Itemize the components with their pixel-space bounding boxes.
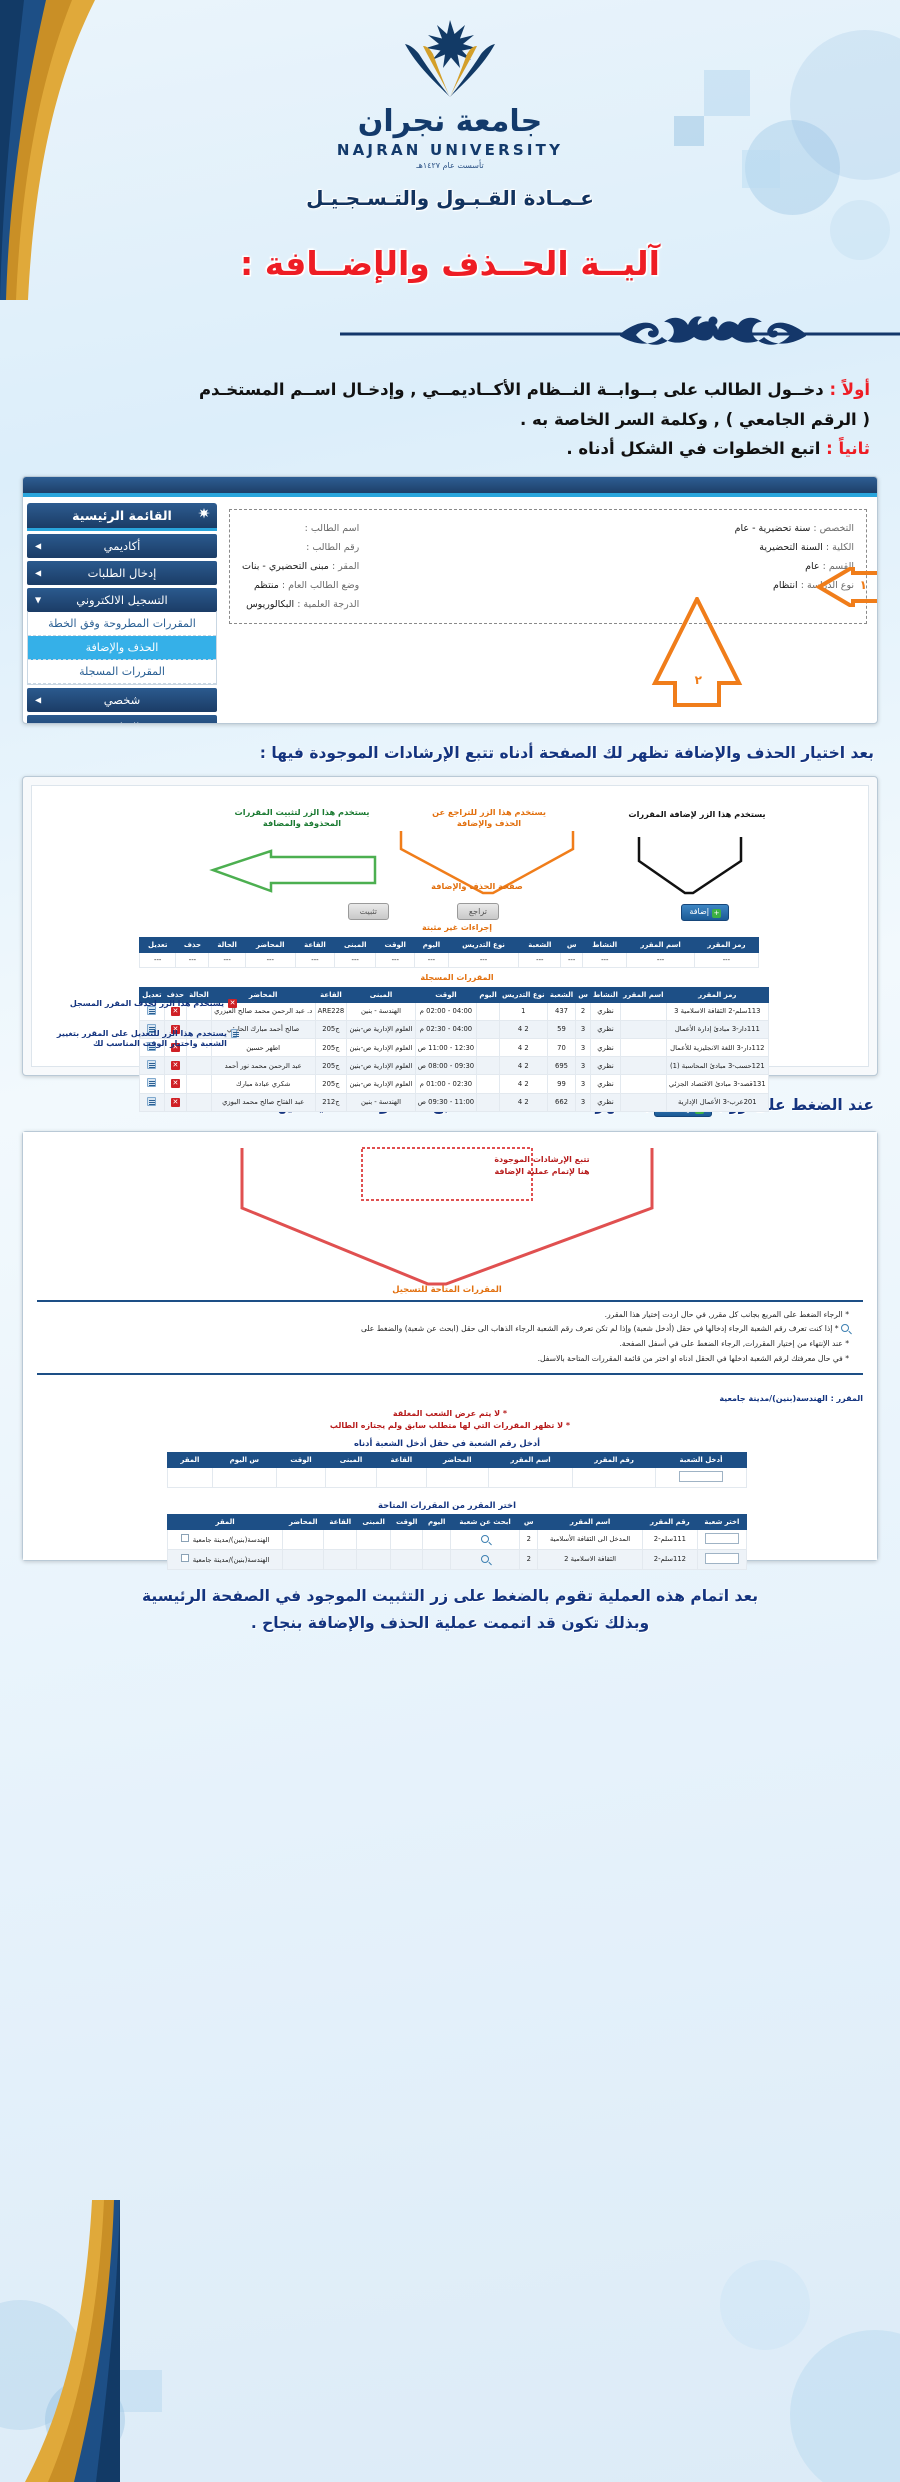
- section-b-title: اختر المقرر من المقررات المتاحة: [317, 1500, 577, 1510]
- column-header: اختر شعبة: [697, 1514, 746, 1529]
- table-cell: [573, 1467, 656, 1487]
- table-cell: [450, 1549, 519, 1569]
- edit-icon[interactable]: [147, 1078, 156, 1087]
- select-course-checkbox[interactable]: [181, 1554, 189, 1562]
- sidebar-item-label: إدخال الطلبات: [88, 566, 157, 580]
- table-cell: [697, 1529, 746, 1549]
- sidebar-title: القائمة الرئيسية: [27, 503, 217, 528]
- table-header-row: اختر شعبةرقم المقرراسم المقررسابحث عن شع…: [168, 1514, 747, 1529]
- table-cell: المدخل الى الثقافة الأسلامية: [538, 1529, 643, 1549]
- portal-sidebar: القائمة الرئيسية ◀ أكاديمي ◀ إدخال الطلب…: [23, 497, 223, 723]
- red-note-line2: هنا لإتمام عملية الإضافة: [457, 1166, 627, 1178]
- instruction-second-text: اتبع الخطوات في الشكل أدناه .: [566, 439, 820, 458]
- search-icon[interactable]: [481, 1555, 489, 1563]
- column-header: المبنى: [357, 1514, 391, 1529]
- chevron-left-icon: ◀: [35, 541, 41, 550]
- chevron-left-icon: ◀: [35, 695, 41, 704]
- table-cell: [283, 1549, 324, 1569]
- column-header: رقم المقرر: [573, 1452, 656, 1467]
- red-note: تتبع الإرشادات الموجودة هنا لإتمام عملية…: [457, 1154, 627, 1178]
- info-row: رقم الطالب :: [242, 538, 359, 557]
- table-cell: [697, 1549, 746, 1569]
- table-cell: [423, 1529, 451, 1549]
- table-cell: 111سلم-2: [642, 1529, 697, 1549]
- column-header: الوقت: [391, 1514, 423, 1529]
- table-cell: 99: [547, 1075, 575, 1093]
- info-row: وضع الطالب العام : منتظم: [242, 576, 359, 595]
- sidebar-item-label: التسجيل الالكتروني: [76, 593, 167, 607]
- deanship-title: عـمـادة القـبـول والتـسـجـيـل: [0, 186, 900, 210]
- red-constraint-1: * لا يتم عرض الشعب المغلقة: [37, 1408, 863, 1420]
- red-note-line1: تتبع الإرشادات الموجودة: [457, 1154, 627, 1166]
- table-cell: ✕: [164, 1075, 186, 1093]
- info-row: الدرجة العلمية : البكالوريوس: [242, 595, 359, 614]
- enter-section-table: أدخل الشعبةرقم المقرراسم المقررالمحاضرال…: [167, 1452, 747, 1488]
- table-cell: 02:30 - 01:00 م: [415, 1075, 477, 1093]
- column-header: رقم المقرر: [642, 1514, 697, 1529]
- instruction-first-line: أولاً : دخــول الطالب على بــوابــة النـ…: [50, 377, 870, 403]
- table-cell: [212, 1467, 276, 1487]
- student-info-area: التخصص : سنة تحضيرية - عام الكلية : السن…: [223, 497, 877, 723]
- inline-add-button[interactable]: + إضافة: [654, 1100, 712, 1117]
- table-cell: [187, 1075, 212, 1093]
- major-row: المقرر : الهندسة(بنين)/مدينة جامعية: [37, 1394, 863, 1403]
- sidebar-subitem-offered-courses[interactable]: المقررات المطروحة وفق الخطة: [28, 612, 216, 636]
- section3-caption-after: ) تظهر لك الصفحة أدناه تتبع الخطوات التا…: [259, 1096, 649, 1114]
- info-row: اسم الطالب :: [242, 519, 359, 538]
- available-courses-caption: المقررات المتاحة للتسجيل: [347, 1284, 547, 1294]
- table-cell: [324, 1549, 357, 1569]
- table-cell: [426, 1467, 488, 1487]
- available-courses-screenshot-panel: تتبع الإرشادات الموجودة هنا لإتمام عملية…: [22, 1131, 878, 1561]
- table-cell: [324, 1529, 357, 1549]
- sidebar-item-label: شخصي: [104, 693, 141, 707]
- column-header: أدخل الشعبة: [656, 1452, 747, 1467]
- section-number-input[interactable]: [705, 1553, 739, 1564]
- corner-ribbon-bottom: [0, 2200, 120, 2482]
- info-row: نوع الدراسة : انتظام: [735, 576, 854, 595]
- table-cell: [450, 1529, 519, 1549]
- section-a-title: أدخل رقم الشعبة في حقل أدخل الشعبة أدناه: [297, 1438, 597, 1448]
- footer-line-2: وبذلك تكون قد اتممت عملية الحذف والإضافة…: [30, 1610, 870, 1637]
- sidebar-item-label: التقارير: [105, 720, 140, 724]
- table-row: 131قصد-3 مبادئ الاقتصاد الجزئينظري3992 4…: [140, 1075, 769, 1093]
- red-constraints: * لا يتم عرض الشعب المغلقة * لا تظهر الم…: [37, 1408, 863, 1432]
- info-row: الكلية : السنة التحضيرية: [735, 538, 854, 557]
- column-header: المحاضر: [283, 1514, 324, 1529]
- sidebar-title-text: القائمة الرئيسية: [72, 508, 172, 523]
- student-info-box: التخصص : سنة تحضيرية - عام الكلية : السن…: [229, 509, 867, 624]
- table-cell: الهندسة(بنين)/مدينة جامعية: [168, 1549, 283, 1569]
- table-cell: 131قصد-3 مبادئ الاقتصاد الجزئي: [666, 1075, 768, 1093]
- tip-line-3: * عند الإنتهاء من إختيار المقررات, الرجا…: [51, 1337, 849, 1352]
- najran-emblem-icon: [383, 18, 518, 102]
- info-row: المقر : مبنى التحضيري - بنات: [242, 557, 359, 576]
- section3-caption: عند الضغط على زر ( + إضافة ) تظهر لك الص…: [20, 1096, 880, 1117]
- tips-bottom-rule: [37, 1373, 863, 1375]
- select-course-checkbox[interactable]: [181, 1534, 189, 1542]
- established-year: تأسست عام ١٤٢٧هـ: [0, 161, 900, 170]
- table-cell: 2: [520, 1549, 538, 1569]
- tips-top-rule: [37, 1300, 863, 1302]
- column-header: ابحث عن شعبة: [450, 1514, 519, 1529]
- tip-line-2: * إذا كنت تعرف رقم الشعبة الرجاء إدخالها…: [51, 1322, 849, 1337]
- instruction-first-label: أولاً :: [829, 380, 870, 399]
- table-row: 112سلم-2الثقافة الاسلامية 22الهندسة(بنين…: [168, 1549, 747, 1569]
- chevron-left-icon: ◀: [35, 722, 41, 724]
- sidebar-item-label: أكاديمي: [104, 539, 141, 553]
- sidebar-item-reports[interactable]: ◀ التقارير: [27, 715, 217, 724]
- section-number-input[interactable]: [705, 1533, 739, 1544]
- red-constraint-2: * لا تظهر المقررات التي لها متطلب سابق و…: [37, 1420, 863, 1432]
- sidebar-item-eregistration[interactable]: ▼ التسجيل الالكتروني: [27, 588, 217, 612]
- portal-screenshot-panel: التخصص : سنة تحضيرية - عام الكلية : السن…: [22, 476, 878, 724]
- footer-note: بعد اتمام هذه العملية تقوم بالضغط على زر…: [30, 1583, 870, 1637]
- table-cell: [357, 1529, 391, 1549]
- sidebar-subitem-registered-courses[interactable]: المقررات المسجلة: [28, 660, 216, 684]
- section2-caption: بعد اختيار الحذف والإضافة تظهر لك الصفحة…: [20, 744, 880, 762]
- chevron-down-icon: ▼: [35, 595, 41, 604]
- column-header: اليوم: [423, 1514, 451, 1529]
- info-row: التخصص : سنة تحضيرية - عام: [735, 519, 854, 538]
- add-drop-screenshot-panel: يستخدم هذا الزر لإضافة المقررات يستخدم ه…: [22, 776, 878, 1076]
- table-cell: [477, 1075, 500, 1093]
- table-cell: [168, 1467, 213, 1487]
- column-header: القاعة: [324, 1514, 357, 1529]
- available-courses-table: اختر شعبةرقم المقرراسم المقررسابحث عن شع…: [167, 1514, 747, 1570]
- university-name-arabic: جامعة نجران: [0, 104, 900, 139]
- student-info-col-right: اسم الطالب : رقم الطالب : المقر : مبنى ا…: [242, 519, 359, 614]
- column-header: الوقت: [276, 1452, 325, 1467]
- column-header: المقر: [168, 1514, 283, 1529]
- plus-icon: +: [695, 1105, 704, 1114]
- instructions-block: أولاً : دخــول الطالب على بــوابــة النـ…: [30, 377, 870, 462]
- instruction-second-label: ثانياً :: [826, 439, 870, 458]
- table-cell: [283, 1529, 324, 1549]
- table-cell: [656, 1467, 747, 1487]
- table-cell: [325, 1467, 376, 1487]
- table-cell: ج205: [315, 1075, 347, 1093]
- sidebar-accent-rule: [27, 528, 217, 531]
- section-number-input[interactable]: [679, 1471, 723, 1482]
- section3-caption-before: عند الضغط على زر (: [717, 1096, 874, 1114]
- portal-topbar: [23, 477, 877, 493]
- table-cell: شكري عبادة مبارك: [211, 1075, 315, 1093]
- sidebar-item-academic[interactable]: ◀ أكاديمي: [27, 534, 217, 558]
- column-header: اسم المقرر: [488, 1452, 572, 1467]
- table-cell: الثقافة الاسلامية 2: [538, 1549, 643, 1569]
- table-cell: 2: [520, 1529, 538, 1549]
- column-header: س: [520, 1514, 538, 1529]
- table-cell: نظري: [590, 1075, 620, 1093]
- column-header: المحاضر: [426, 1452, 488, 1467]
- sidebar-logo-icon: [198, 507, 210, 522]
- chevron-left-icon: ◀: [35, 568, 41, 577]
- section-a-table-wrap: أدخل الشعبةرقم المقرراسم المقررالمحاضرال…: [167, 1452, 747, 1488]
- major-label: المقرر :: [831, 1394, 863, 1403]
- sidebar-submenu: المقررات المطروحة وفق الخطة الحذف والإضا…: [27, 612, 217, 685]
- sidebar-item-personal[interactable]: ◀ شخصي: [27, 688, 217, 712]
- table-row: 111سلم-2المدخل الى الثقافة الأسلامية2اله…: [168, 1529, 747, 1549]
- table-header-row: أدخل الشعبةرقم المقرراسم المقررالمحاضرال…: [168, 1452, 747, 1467]
- table-cell: [276, 1467, 325, 1487]
- page-title: آليــة الحــذف والإضــافة :: [0, 244, 900, 283]
- column-header: اسم المقرر: [538, 1514, 643, 1529]
- table-cell: [357, 1549, 391, 1569]
- tip-line-1: * الرجاء الضغط على المربع بجانب كل مقرر,…: [51, 1308, 849, 1323]
- table-cell: [377, 1467, 427, 1487]
- table-cell: العلوم الإدارية ص-بنين: [347, 1075, 415, 1093]
- table-cell: [423, 1549, 451, 1569]
- table-cell: [488, 1467, 572, 1487]
- major-value: الهندسة(بنين)/مدينة جامعية: [719, 1394, 827, 1403]
- table-cell: الهندسة(بنين)/مدينة جامعية: [168, 1529, 283, 1549]
- ornamental-divider: [340, 313, 900, 357]
- university-logo: جامعة نجران NAJRAN UNIVERSITY تأسست عام …: [0, 0, 900, 170]
- table-cell: [621, 1075, 667, 1093]
- university-name-english: NAJRAN UNIVERSITY: [0, 141, 900, 159]
- tips-box: * الرجاء الضغط على المربع بجانب كل مقرر,…: [37, 1300, 863, 1375]
- tip-line-4: * في حال معرفتك لرقم الشعبة ادخلها في ال…: [51, 1352, 849, 1367]
- table-cell: [391, 1549, 423, 1569]
- table-row: [168, 1467, 747, 1487]
- callout-arrow-red: [232, 1142, 662, 1292]
- student-info-col-left: التخصص : سنة تحضيرية - عام الكلية : السن…: [735, 519, 854, 614]
- column-header: القاعة: [377, 1452, 427, 1467]
- table-cell: [140, 1075, 165, 1093]
- instruction-first-line2: ( الرقم الجامعي ) , وكلمة السر الخاصة به…: [50, 407, 870, 433]
- delete-icon[interactable]: ✕: [171, 1079, 180, 1088]
- footer-line-1: بعد اتمام هذه العملية تقوم بالضغط على زر…: [30, 1583, 870, 1610]
- column-header: المقر: [168, 1452, 213, 1467]
- table-cell: 3: [576, 1075, 591, 1093]
- table-cell: 2 4: [499, 1075, 547, 1093]
- column-header: س اليوم: [212, 1452, 276, 1467]
- info-row: القسم : عام: [735, 557, 854, 576]
- table-cell: [391, 1529, 423, 1549]
- sidebar-item-requests[interactable]: ◀ إدخال الطلبات: [27, 561, 217, 585]
- column-header: المبنى: [325, 1452, 376, 1467]
- search-icon[interactable]: [481, 1535, 489, 1543]
- instruction-second-line: ثانياً : اتبع الخطوات في الشكل أدناه .: [50, 436, 870, 462]
- search-icon: [841, 1324, 849, 1332]
- instruction-first-text: دخــول الطالب على بــوابــة النــظام الأ…: [199, 380, 824, 399]
- section-b-table-wrap: اختر شعبةرقم المقرراسم المقررسابحث عن شع…: [167, 1514, 747, 1570]
- table-cell: 112سلم-2: [642, 1549, 697, 1569]
- sidebar-subitem-add-drop[interactable]: الحذف والإضافة: [28, 636, 216, 660]
